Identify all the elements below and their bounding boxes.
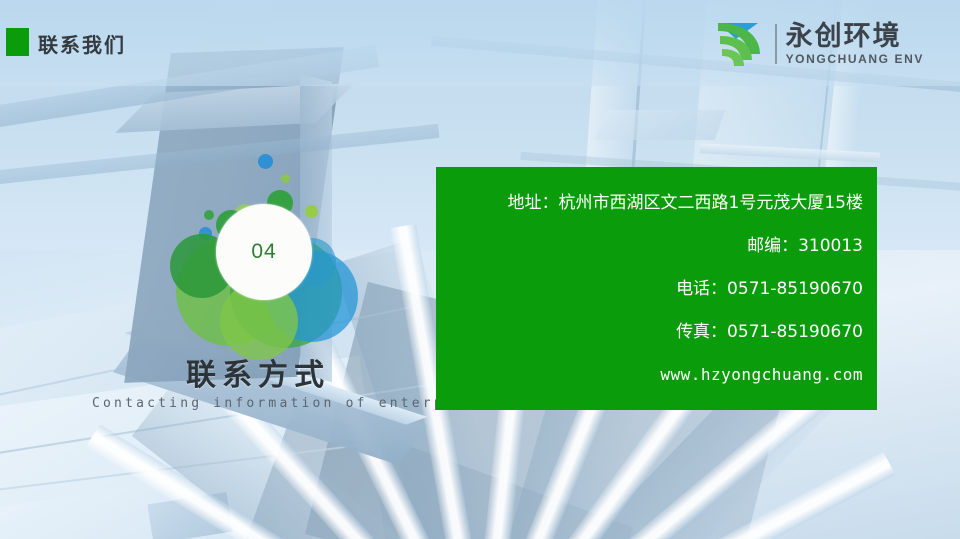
logo-name-cn: 永创环境 — [786, 23, 924, 50]
section-subtitle: Contacting information of enterprise — [92, 396, 489, 411]
bubble-blue-1 — [258, 154, 273, 169]
bubble-green-3 — [204, 210, 214, 220]
contact-postcode: 邮编：310013 — [436, 238, 863, 255]
contact-panel: 地址：杭州市西湖区文二西路1号元茂大厦15楼 邮编：310013 电话：0571… — [436, 167, 877, 410]
contact-address: 地址：杭州市西湖区文二西路1号元茂大厦15楼 — [436, 195, 863, 212]
section-title: 联系方式 — [186, 350, 330, 394]
badge-number: 04 — [251, 240, 276, 264]
badge-center-disc: 04 — [216, 204, 312, 300]
header-accent-square — [6, 28, 29, 56]
bubble-lgreen-2 — [305, 205, 318, 218]
logo-divider — [775, 24, 777, 64]
contact-website[interactable]: www.hzyongchuang.com — [436, 367, 863, 383]
slide-header: 联系我们 永创环境 YONGCHUANG ENV — [0, 0, 960, 86]
company-logo: 永创环境 YONGCHUANG ENV — [714, 20, 924, 68]
bubble-lgreen-1 — [281, 174, 290, 183]
contact-panel-lines: 地址：杭州市西湖区文二西路1号元茂大厦15楼 邮编：310013 电话：0571… — [436, 195, 863, 383]
leaf-swoosh-logo-icon — [714, 20, 766, 68]
contact-phone: 电话：0571-85190670 — [436, 281, 863, 298]
right-ledge-2 — [595, 110, 726, 140]
contact-fax: 传真：0571-85190670 — [436, 324, 863, 341]
section-number-badge: 04 — [168, 152, 368, 352]
header-title: 联系我们 — [38, 29, 126, 58]
logo-name-en: YONGCHUANG ENV — [786, 53, 924, 65]
slide-canvas: 04 联系方式 Contacting information of enterp… — [0, 0, 960, 539]
logo-text: 永创环境 YONGCHUANG ENV — [786, 23, 924, 65]
